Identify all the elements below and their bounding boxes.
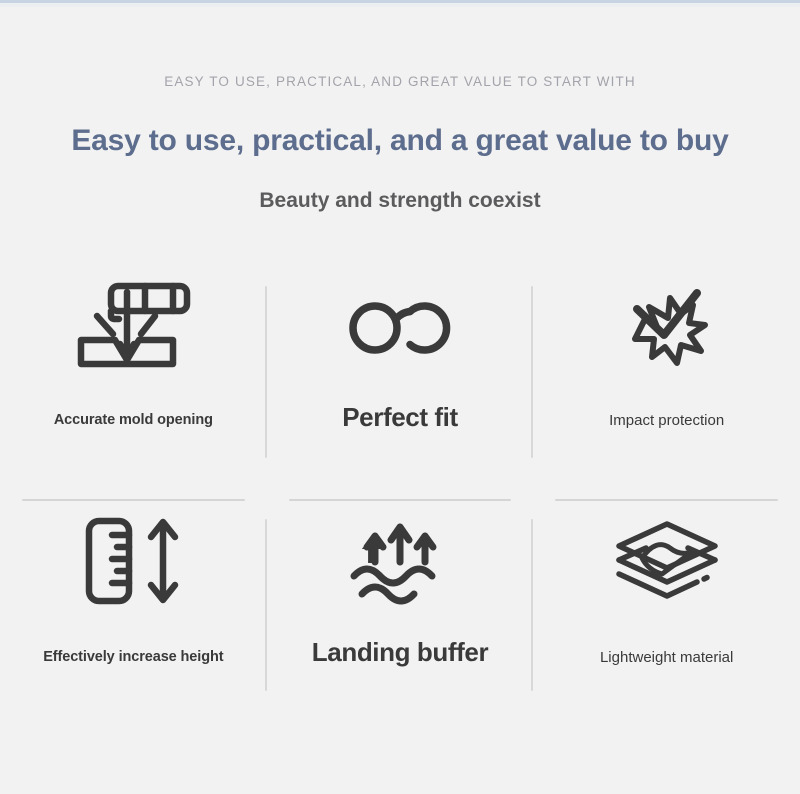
feature-grid: Accurate mold opening Perfect fit	[0, 268, 800, 734]
eyebrow-text: EASY TO USE, PRACTICAL, AND GREAT VALUE …	[0, 72, 800, 92]
infinity-loop-icon	[348, 268, 452, 388]
page-title: Easy to use, practical, and a great valu…	[0, 122, 800, 160]
stacked-layers-icon	[612, 501, 722, 621]
feature-item-perfect-fit: Perfect fit	[267, 268, 534, 501]
page-subtitle: Beauty and strength coexist	[0, 186, 800, 216]
feature-label: Effectively increase height	[43, 649, 223, 665]
feature-item-landing-buffer: Landing buffer	[267, 501, 534, 734]
feature-item-effectively-increase-height: Effectively increase height	[0, 501, 267, 734]
ruler-height-icon	[81, 501, 185, 621]
feature-label: Accurate mold opening	[54, 412, 213, 428]
feature-item-accurate-mold-opening: Accurate mold opening	[0, 268, 267, 501]
feature-item-lightweight-material: Lightweight material	[533, 501, 800, 734]
cushion-waves-icon	[346, 501, 454, 621]
mold-press-icon	[75, 268, 191, 388]
header-block: EASY TO USE, PRACTICAL, AND GREAT VALUE …	[0, 0, 800, 216]
feature-label: Impact protection	[609, 412, 724, 429]
feature-label: Landing buffer	[312, 637, 488, 668]
impact-burst-icon	[619, 268, 715, 388]
feature-item-impact-protection: Impact protection	[533, 268, 800, 501]
feature-label: Perfect fit	[342, 402, 458, 433]
product-feature-banner: EASY TO USE, PRACTICAL, AND GREAT VALUE …	[0, 0, 800, 794]
feature-label: Lightweight material	[600, 649, 733, 666]
